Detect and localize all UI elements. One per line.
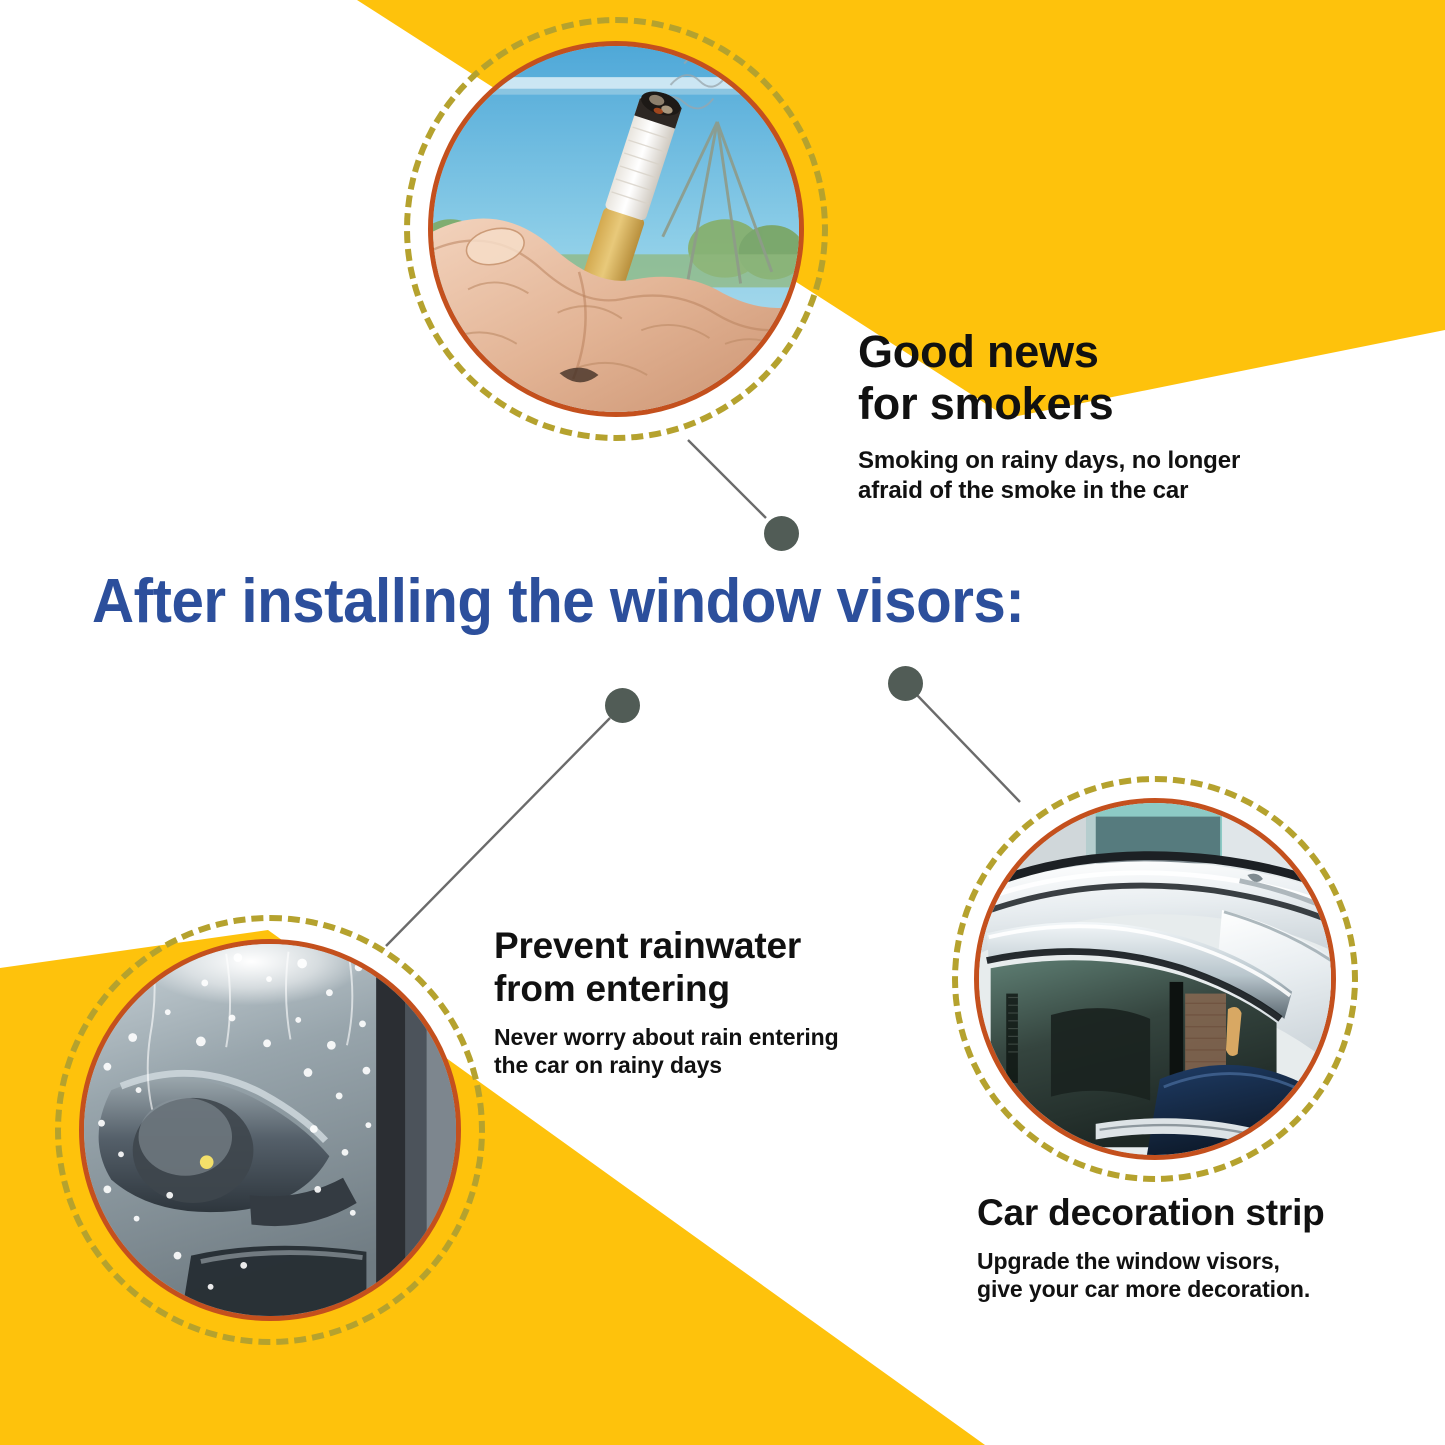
feature-block-smokers: Good news for smokers Smoking on rainy d… (858, 326, 1328, 505)
page-title: After installing the window visors: (92, 566, 1314, 637)
photo-badge-rainwater (55, 915, 485, 1345)
photo-smokers (428, 41, 804, 417)
feature-subtitle-rainwater: Never worry about rain entering the car … (494, 1023, 914, 1079)
feature-subtitle-decoration: Upgrade the window visors, give your car… (977, 1247, 1427, 1303)
feature-block-decoration: Car decoration strip Upgrade the window … (977, 1192, 1427, 1303)
photo-decoration (974, 798, 1336, 1160)
feature-block-rainwater: Prevent rainwater from entering Never wo… (494, 925, 914, 1079)
feature-title-decoration: Car decoration strip (977, 1192, 1427, 1235)
connector-dot-smokers (764, 516, 799, 551)
photo-badge-smokers (404, 17, 828, 441)
connector-dot-decoration (888, 666, 923, 701)
connector-line-decoration (916, 694, 1020, 802)
photo-rainwater (79, 939, 461, 1321)
feature-title-rainwater: Prevent rainwater from entering (494, 925, 914, 1011)
feature-title-smokers: Good news for smokers (858, 326, 1328, 430)
connector-dot-rainwater (605, 688, 640, 723)
infographic-canvas: Good news for smokers Smoking on rainy d… (0, 0, 1445, 1445)
feature-subtitle-smokers: Smoking on rainy days, no longer afraid … (858, 446, 1328, 505)
photo-badge-decoration (952, 776, 1358, 1182)
connector-line-rainwater (386, 718, 610, 946)
connector-line-smokers (688, 440, 766, 518)
